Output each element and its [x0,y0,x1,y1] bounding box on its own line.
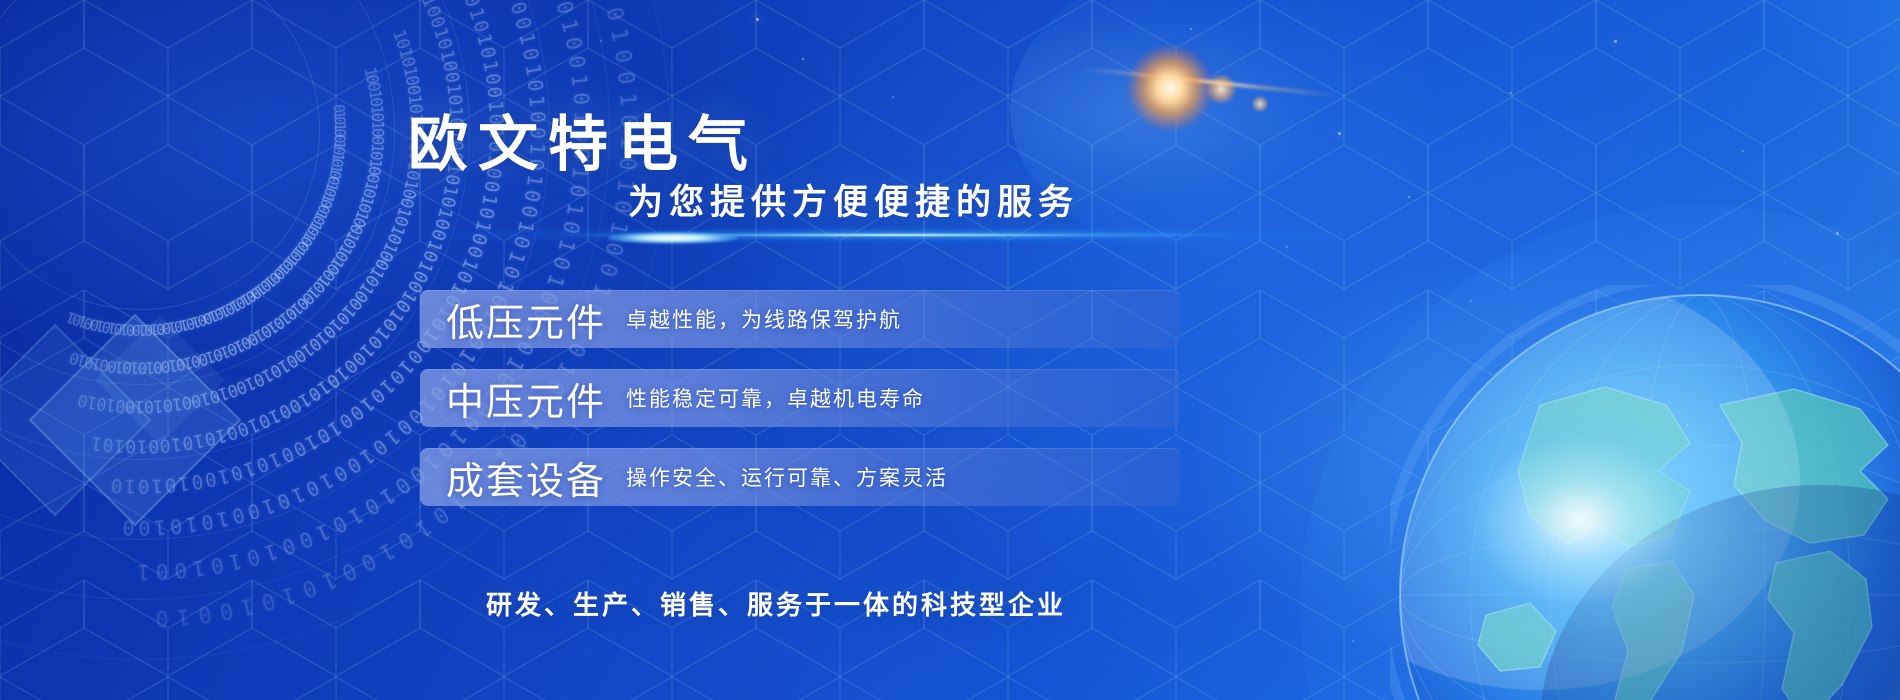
feature-bar-low-voltage[interactable]: 低压元件 卓越性能，为线路保驾护航 [420,290,1180,348]
feature-list: 低压元件 卓越性能，为线路保驾护航 中压元件 性能稳定可靠，卓越机电寿命 成套设… [420,290,1180,527]
feature-title: 中压元件 [446,371,606,426]
page-title: 欧文特电气 [408,96,758,183]
hero-banner: 0101001010100101001010100101010010100101… [0,0,1900,700]
feature-bar-complete-equipment[interactable]: 成套设备 操作安全、运行可靠、方案灵活 [420,448,1180,506]
feature-description: 性能稳定可靠，卓越机电寿命 [626,383,925,413]
page-subtitle: 为您提供方便便捷的服务 [628,174,1079,225]
company-tagline: 研发、生产、销售、服务于一体的科技型企业 [486,585,1066,622]
feature-description: 操作安全、运行可靠、方案灵活 [626,462,948,492]
feature-title: 成套设备 [446,450,606,505]
feature-title: 低压元件 [446,292,606,347]
feature-description: 卓越性能，为线路保驾护航 [626,304,902,334]
banner-content: 欧文特电气 为您提供方便便捷的服务 低压元件 卓越性能，为线路保驾护航 中压元件… [0,0,1900,700]
feature-bar-medium-voltage[interactable]: 中压元件 性能稳定可靠，卓越机电寿命 [420,369,1180,427]
